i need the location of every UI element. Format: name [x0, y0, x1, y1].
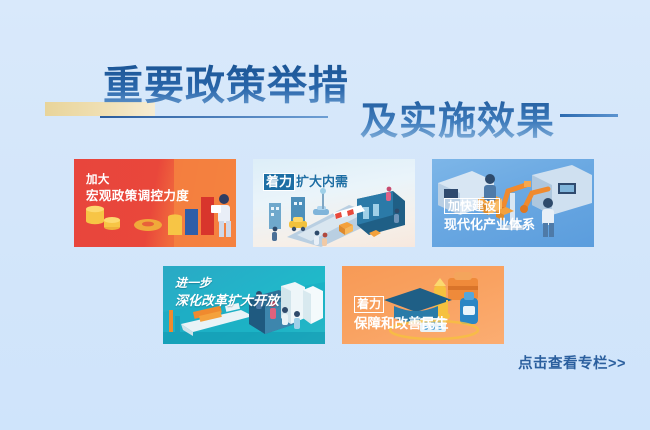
- card-reform-opening[interactable]: 进一步 深化改革扩大开放: [163, 266, 325, 344]
- policy-banner: 重要政策举措 及实施效果: [0, 0, 650, 430]
- banner-title-block: 重要政策举措 及实施效果: [0, 58, 650, 150]
- card-domestic-demand-line1: 着力: [263, 174, 296, 189]
- card-macro-policy-line2: 宏观政策调控力度: [86, 189, 189, 204]
- card-livelihood-line2: 保障和改善民生: [354, 316, 449, 332]
- banner-title-sub: 及实施效果: [360, 96, 555, 148]
- card-reform-opening-line1: 进一步: [175, 276, 279, 291]
- card-reform-opening-label: 进一步 深化改革扩大开放: [175, 276, 279, 308]
- view-column-link[interactable]: 点击查看专栏>>: [518, 352, 626, 373]
- card-macro-policy-label: 加大 宏观政策调控力度: [86, 173, 189, 204]
- card-livelihood-label: 着力 保障和改善民生: [354, 296, 449, 332]
- card-industrial-system-line1: 加快建设: [444, 198, 500, 215]
- card-reform-opening-line2: 深化改革扩大开放: [175, 293, 279, 309]
- title-underline-right: [560, 114, 618, 117]
- card-industrial-system-line2: 现代化产业体系: [444, 217, 535, 233]
- card-livelihood[interactable]: 着力 保障和改善民生: [342, 266, 504, 344]
- card-macro-policy-line1: 加大: [86, 173, 189, 187]
- cards-row-bottom: 进一步 深化改革扩大开放: [0, 266, 650, 344]
- card-industrial-system-label: 加快建设 现代化产业体系: [444, 198, 535, 233]
- card-domestic-demand-label: 着力扩大内需: [263, 173, 348, 191]
- cards-row-top: 加大 宏观政策调控力度: [0, 159, 650, 247]
- banner-title-main: 重要政策举措: [103, 58, 349, 114]
- card-domestic-demand-boxed: 着力: [263, 173, 295, 191]
- card-livelihood-line1: 着力: [354, 296, 449, 313]
- card-domestic-demand[interactable]: 着力扩大内需: [253, 159, 415, 247]
- card-livelihood-boxed: 着力: [354, 296, 384, 313]
- card-macro-policy[interactable]: 加大 宏观政策调控力度: [74, 159, 236, 247]
- title-underline-left: [100, 116, 328, 118]
- card-industrial-system[interactable]: 加快建设 现代化产业体系: [432, 159, 594, 247]
- card-domestic-demand-line2: 扩大内需: [296, 174, 348, 189]
